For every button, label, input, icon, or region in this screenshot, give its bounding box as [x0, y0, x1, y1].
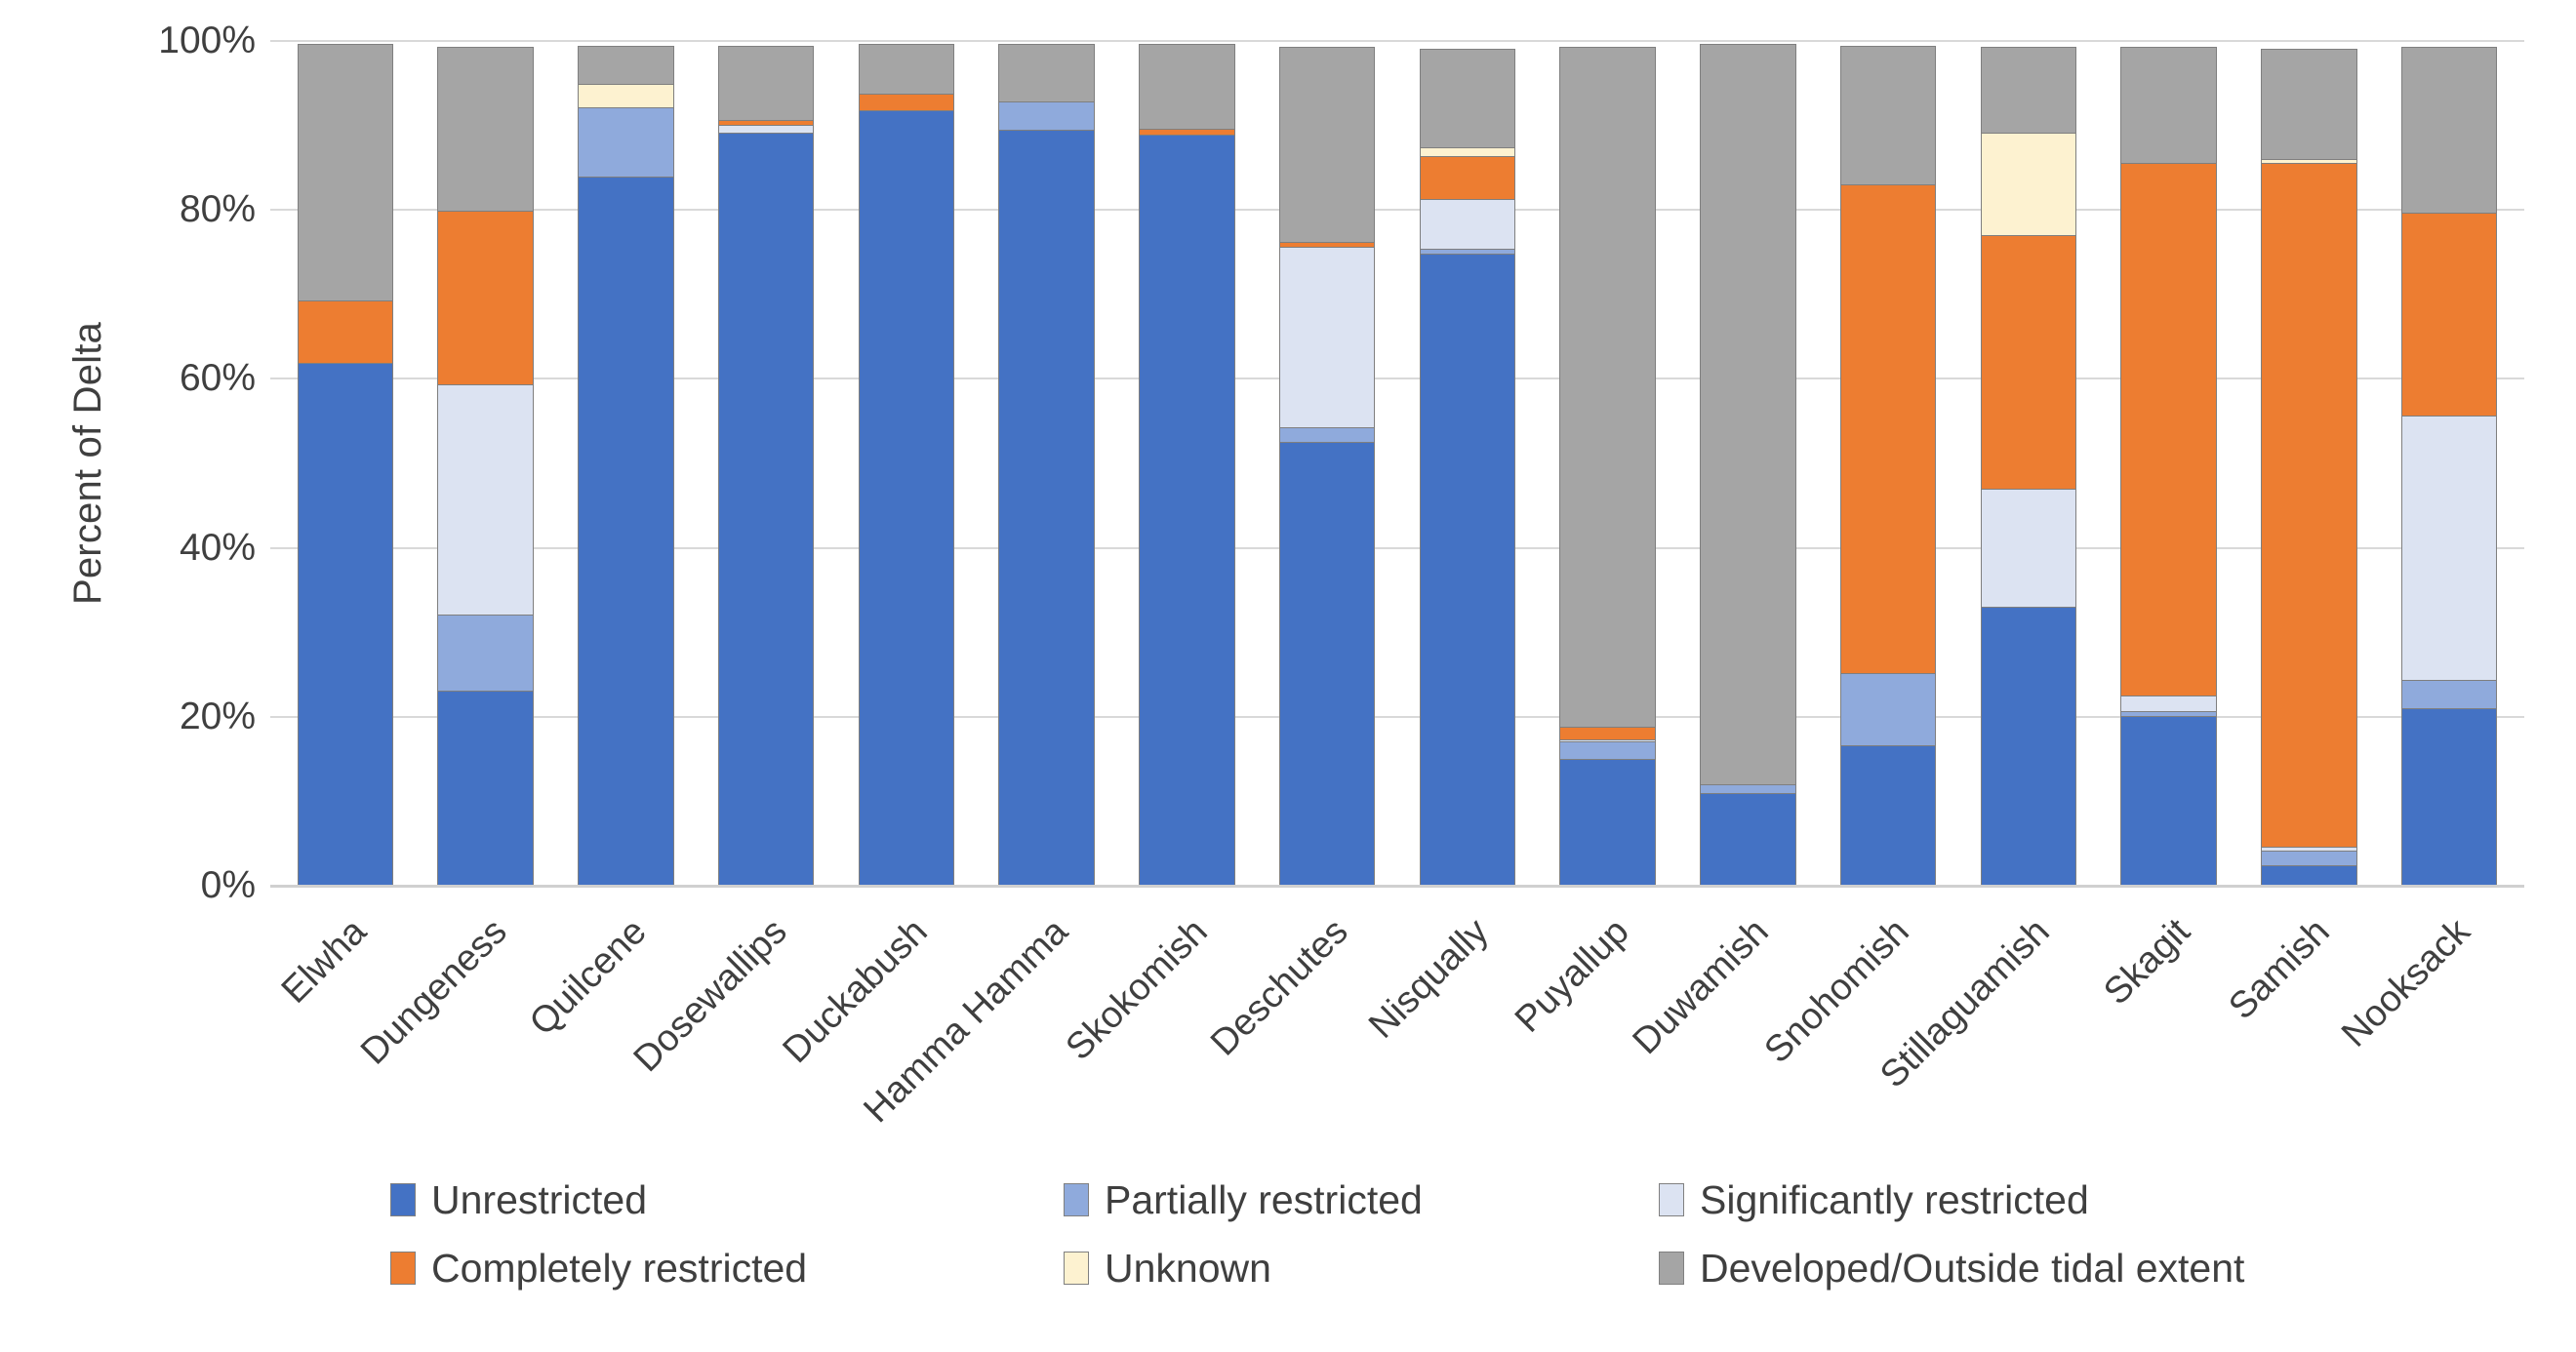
bar-segment[interactable] [2120, 716, 2216, 886]
stacked-bar[interactable] [1840, 41, 1936, 886]
bar-slot [836, 41, 977, 886]
x-tick-slot: Skagit [2099, 886, 2239, 1139]
bar-slot [556, 41, 697, 886]
bar-segment[interactable] [859, 44, 954, 96]
bar-segment[interactable] [2401, 213, 2497, 418]
chart-legend: UnrestrictedPartially restrictedSignific… [390, 1166, 2244, 1302]
bar-segment[interactable] [1279, 247, 1375, 428]
bar-segment[interactable] [2261, 865, 2356, 886]
bar-segment[interactable] [298, 44, 393, 301]
legend-item[interactable]: Unknown [1064, 1234, 1659, 1302]
bar-slot [1958, 41, 2099, 886]
legend-swatch-icon [1064, 1183, 1089, 1216]
legend-item[interactable]: Unrestricted [390, 1166, 1064, 1234]
bar-segment[interactable] [298, 363, 393, 886]
bar-segment[interactable] [2401, 680, 2497, 709]
bar-segment[interactable] [437, 615, 533, 693]
legend-swatch-icon [1659, 1252, 1684, 1285]
bar-segment[interactable] [2120, 163, 2216, 696]
legend-swatch-icon [390, 1183, 416, 1216]
bar-segment[interactable] [1981, 235, 2076, 491]
bar-segment[interactable] [1420, 199, 1515, 251]
x-tick-slot: Stillaguamish [1958, 886, 2099, 1139]
bar-segment[interactable] [578, 46, 673, 86]
bar-slot [1257, 41, 1397, 886]
y-axis-tick-labels: 0%20%40%60%80%100% [107, 0, 273, 1352]
bar-segment[interactable] [2120, 696, 2216, 713]
bar-segment[interactable] [1420, 254, 1515, 886]
bar-segment[interactable] [859, 94, 954, 111]
bar-segment[interactable] [437, 384, 533, 616]
bar-segment[interactable] [998, 44, 1094, 103]
bar-slot [1538, 41, 1678, 886]
bar-segment[interactable] [578, 107, 673, 178]
bar-segment[interactable] [1279, 442, 1375, 886]
bar-segment[interactable] [998, 101, 1094, 131]
bar-segment[interactable] [859, 110, 954, 886]
x-tick-label: Samish [2222, 911, 2339, 1028]
y-tick-label: 100% [158, 20, 256, 62]
y-tick-label: 40% [180, 527, 256, 570]
legend-label: Partially restricted [1105, 1177, 1423, 1223]
bar-segment[interactable] [578, 84, 673, 109]
bar-segment[interactable] [1559, 741, 1655, 761]
bar-segment[interactable] [998, 130, 1094, 886]
bar-slot [275, 41, 416, 886]
stacked-bar[interactable] [437, 41, 533, 886]
legend-swatch-icon [1064, 1252, 1089, 1285]
x-tick-label: Skagit [2096, 911, 2198, 1014]
stacked-bar[interactable] [718, 41, 814, 886]
stacked-bar[interactable] [2261, 41, 2356, 886]
y-tick-label: 0% [201, 864, 256, 907]
bar-segment[interactable] [1840, 745, 1936, 886]
bar-slot [1397, 41, 1538, 886]
legend-item[interactable]: Significantly restricted [1659, 1166, 2244, 1234]
legend-label: Unrestricted [431, 1177, 647, 1223]
stacked-bar[interactable] [1559, 41, 1655, 886]
x-axis-tick-labels: ElwhaDungenessQuilceneDosewallipsDuckabu… [275, 886, 2519, 1139]
bar-segment[interactable] [1981, 489, 2076, 609]
bar-slot [977, 41, 1117, 886]
legend-label: Significantly restricted [1700, 1177, 2089, 1223]
bar-segment[interactable] [1840, 184, 1936, 674]
bar-segment[interactable] [1420, 49, 1515, 149]
y-tick-label: 20% [180, 696, 256, 738]
x-tick-label: Elwha [274, 911, 376, 1013]
bar-segment[interactable] [1139, 44, 1234, 130]
legend-label: Completely restricted [431, 1246, 807, 1292]
bar-segment[interactable] [1700, 793, 1795, 886]
legend-item[interactable]: Completely restricted [390, 1234, 1064, 1302]
bar-segment[interactable] [437, 47, 533, 213]
bar-segment[interactable] [2401, 47, 2497, 214]
bar-slot [416, 41, 556, 886]
bar-segment[interactable] [1279, 427, 1375, 444]
chart-root: Percent of Delta 0%20%40%60%80%100% Elwh… [0, 0, 2576, 1352]
bar-segment[interactable] [1700, 44, 1795, 785]
stacked-bar[interactable] [1279, 41, 1375, 886]
bar-slot [1678, 41, 1819, 886]
legend-label: Unknown [1105, 1246, 1271, 1292]
stacked-bar[interactable] [1420, 41, 1515, 886]
bar-segment[interactable] [1981, 133, 2076, 237]
bar-segment[interactable] [2120, 47, 2216, 164]
stacked-bar[interactable] [298, 41, 393, 886]
bar-segment[interactable] [2261, 163, 2356, 848]
stacked-bar[interactable] [1139, 41, 1234, 886]
plot-area [275, 41, 2519, 886]
legend-item[interactable]: Partially restricted [1064, 1166, 1659, 1234]
bar-slot [1117, 41, 1258, 886]
bar-segment[interactable] [2401, 708, 2497, 886]
bar-segment[interactable] [718, 46, 814, 122]
bar-segment[interactable] [1420, 156, 1515, 200]
bar-segment[interactable] [2261, 49, 2356, 161]
bar-segment[interactable] [1981, 47, 2076, 134]
bar-segment[interactable] [1279, 47, 1375, 244]
legend-swatch-icon [390, 1252, 416, 1285]
stacked-bar[interactable] [1700, 41, 1795, 886]
bar-segment[interactable] [1559, 759, 1655, 886]
bar-segment[interactable] [2401, 416, 2497, 682]
bar-segment[interactable] [437, 211, 533, 385]
bar-slot [2239, 41, 2380, 886]
x-tick-slot: Nooksack [2379, 886, 2519, 1139]
bar-segment[interactable] [1559, 47, 1655, 729]
stacked-bar[interactable] [578, 41, 673, 886]
y-tick-label: 60% [180, 357, 256, 400]
legend-swatch-icon [1659, 1183, 1684, 1216]
legend-label: Developed/Outside tidal extent [1700, 1246, 2244, 1292]
bar-slot [2379, 41, 2519, 886]
bar-slot [696, 41, 836, 886]
bar-segment[interactable] [1981, 607, 2076, 886]
legend-item[interactable]: Developed/Outside tidal extent [1659, 1234, 2244, 1302]
bar-segment[interactable] [1840, 46, 1936, 186]
bar-series-group [275, 41, 2519, 886]
bar-segment[interactable] [1139, 135, 1234, 886]
stacked-bar[interactable] [998, 41, 1094, 886]
y-tick-label: 80% [180, 188, 256, 231]
stacked-bar[interactable] [1981, 41, 2076, 886]
bar-segment[interactable] [1840, 673, 1936, 747]
bar-slot [1818, 41, 1958, 886]
stacked-bar[interactable] [859, 41, 954, 886]
stacked-bar[interactable] [2401, 41, 2497, 886]
bar-segment[interactable] [437, 691, 533, 886]
bar-segment[interactable] [578, 177, 673, 886]
bar-segment[interactable] [718, 133, 814, 886]
stacked-bar[interactable] [2120, 41, 2216, 886]
bar-segment[interactable] [298, 300, 393, 365]
bar-slot [2099, 41, 2239, 886]
